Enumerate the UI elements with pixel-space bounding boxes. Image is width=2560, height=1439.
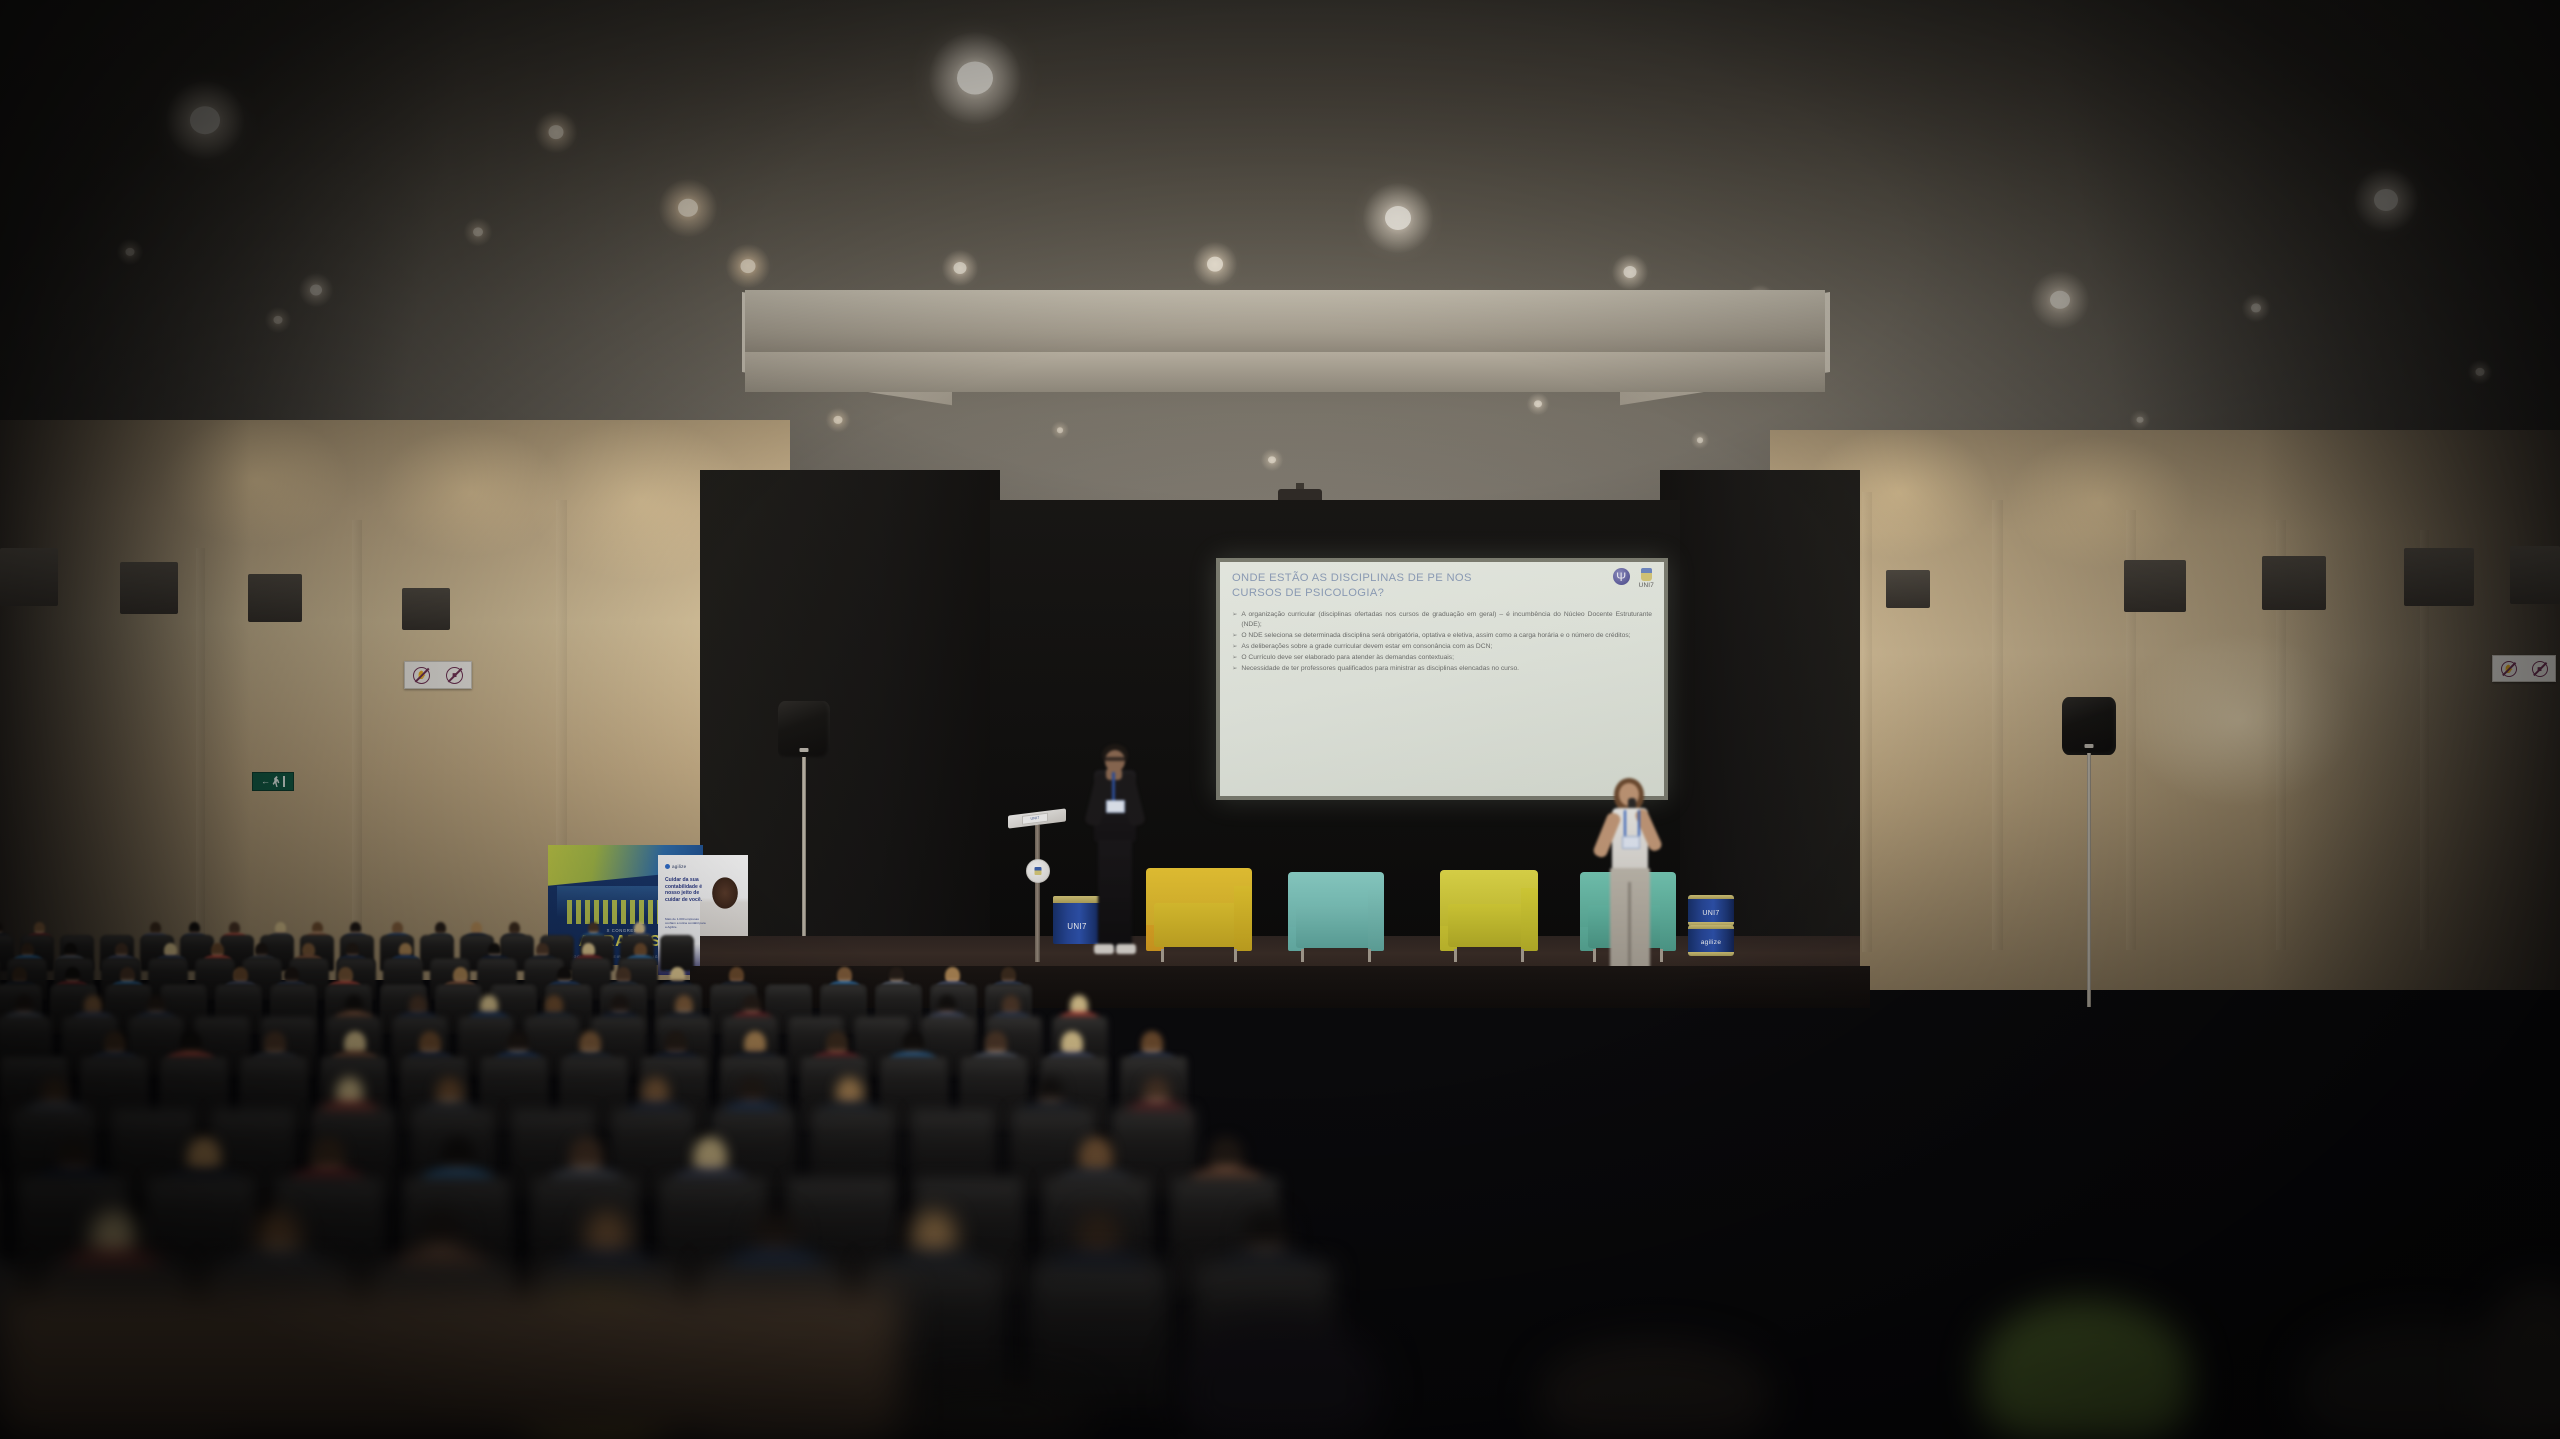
bullet-arrow-icon: ➢ (1232, 610, 1237, 629)
slide-bullet-1: ➢A organização curricular (disciplinas o… (1232, 610, 1652, 629)
slide-bullet-4: ➢O Currículo deve ser elaborado para ate… (1232, 653, 1652, 663)
slide-bullet-list: ➢A organização curricular (disciplinas o… (1232, 610, 1652, 673)
prohibition-sign-left: ✋ ■ (404, 661, 472, 689)
armchair-2-arm-right (1368, 890, 1384, 952)
no-smoking-sign: ✋ (405, 662, 438, 688)
slide-bullet-2: ➢O NDE seleciona se determinada discipli… (1232, 631, 1652, 641)
right-wall-shadow (2260, 430, 2560, 990)
no-smoking-sign-right: ✋ (2493, 656, 2524, 681)
slide-bullet-text: O Currículo deve ser elaborado para aten… (1241, 653, 1454, 663)
acoustic-panel-1 (0, 548, 58, 606)
agilize-brand-name: agilize (672, 864, 686, 869)
foreground-audience-blur-4 (1180, 1318, 1380, 1439)
presenter-right (1598, 778, 1660, 990)
barrel-agilize: agilize (1688, 925, 1734, 956)
exit-door-icon (283, 776, 285, 787)
running-person-icon (272, 776, 280, 787)
pa-speaker-right-stand (2087, 753, 2091, 1007)
acoustic-panel-9 (1886, 570, 1930, 608)
acoustic-panel-6 (2262, 556, 2326, 610)
slide-bullet-3: ➢As deliberações sobre a grade curricula… (1232, 642, 1652, 652)
armchair-3-leg-right (1521, 949, 1524, 962)
armchair-4-leg-right (1660, 949, 1663, 961)
lectern-shield-icon (1035, 867, 1042, 875)
armchair-1-seat (1154, 903, 1243, 947)
presenter-right-lanyard (1624, 810, 1640, 836)
pa-speaker-right-badge (2085, 744, 2094, 748)
wall-fin-1 (352, 520, 362, 950)
presenter-left-shoe-left (1094, 944, 1114, 954)
barrel-uni7: UNI7 (1688, 895, 1734, 926)
slide-title-line-2: CURSOS DE PSICOLOGIA? (1232, 586, 1532, 601)
no-smoking-icon-right: ✋ (2501, 661, 2517, 677)
prohibition-sign-right: ✋ ■ (2492, 655, 2556, 682)
barrel-agilize-label: agilize (1688, 939, 1734, 946)
slide-content: UNI7 ONDE ESTÃO AS DISCIPLINAS DE PE NOS… (1220, 562, 1664, 796)
foreground-audience-blur-6 (1980, 1300, 2190, 1439)
armchair-3 (1440, 870, 1538, 960)
lectern-logo: UNI7 (1022, 813, 1048, 825)
bullet-arrow-icon: ➢ (1232, 642, 1237, 652)
armchair-1-arm-right (1234, 886, 1252, 950)
armchair-2-seat (1296, 905, 1377, 947)
presenter-left-legs (1098, 840, 1132, 950)
no-drinks-sign-right: ■ (2524, 656, 2555, 681)
slide-bullet-text: A organização curricular (disciplinas of… (1241, 610, 1652, 629)
uni7-shield-icon (1641, 568, 1652, 581)
foreground-audience-blur-8 (880, 1378, 1090, 1439)
barrel-agilize-rim-bottom (1688, 952, 1734, 956)
presenter-left-shoe-right (1116, 944, 1136, 954)
barrel-agilize-rim-top (1688, 925, 1734, 929)
armchair-2 (1288, 872, 1384, 960)
armchair-4-arm-right (1660, 890, 1676, 952)
presenter-left-glasses-icon (1104, 757, 1126, 761)
aisle-floor (0, 1290, 900, 1439)
presenter-right-badge (1622, 836, 1640, 849)
acoustic-panel-5 (2124, 560, 2186, 612)
wall-fin-5 (1992, 500, 2003, 950)
pa-speaker-left-cabinet (778, 701, 830, 759)
no-drinks-sign: ■ (438, 662, 471, 688)
agilize-logo-icon (665, 864, 670, 869)
acoustic-panel-4 (402, 588, 450, 630)
barrel-uni7-rim-top (1688, 895, 1734, 899)
slide-bullet-text: Necessidade de ter professores qualifica… (1241, 664, 1519, 674)
barrel-uni7-label: UNI7 (1688, 910, 1734, 917)
pa-speaker-left-badge (800, 748, 809, 752)
exit-arrow-icon: ← (261, 777, 270, 786)
emergency-exit-sign: ← (252, 772, 294, 791)
no-drinks-icon: ■ (446, 667, 463, 684)
acoustic-panel-2 (120, 562, 178, 614)
bullet-arrow-icon: ➢ (1232, 631, 1237, 641)
slide-logos: UNI7 (1613, 568, 1654, 589)
bullet-arrow-icon: ➢ (1232, 664, 1237, 674)
presenter-left (1088, 744, 1142, 959)
stage-soffit-face (745, 352, 1825, 392)
armchair-3-arm-right (1521, 888, 1538, 951)
armchair-1-leg-left (1161, 949, 1164, 962)
uni7-logo-label: UNI7 (1639, 582, 1654, 589)
uni7-logo: UNI7 (1639, 568, 1654, 589)
armchair-3-leg-left (1454, 949, 1457, 962)
armchair-3-seat (1448, 904, 1530, 947)
agilize-headline: Cuidar da sua contabilidade é nosso jeit… (665, 877, 713, 903)
wall-fin-4 (1862, 492, 1872, 952)
no-smoking-icon: ✋ (413, 667, 430, 684)
lectern-logo-label: UNI7 (1023, 814, 1047, 824)
acoustic-panel-7 (2404, 548, 2474, 606)
audience-seat (660, 935, 694, 971)
armchair-2-leg-left (1301, 949, 1304, 961)
auditorium-scene: ✋ ■ ✋ ■ ← (0, 0, 2560, 1439)
foreground-audience-blur-9 (2480, 1280, 2560, 1439)
pa-speaker-right-cabinet (2062, 697, 2116, 755)
slide-title: ONDE ESTÃO AS DISCIPLINAS DE PE NOS CURS… (1232, 571, 1532, 601)
left-wall-shadow (0, 420, 250, 980)
presenter-right-pants-seam (1628, 882, 1631, 978)
wall-fin-9 (196, 548, 205, 958)
acoustic-panel-8 (2510, 546, 2560, 604)
armchair-1-leg-right (1234, 949, 1237, 962)
slide-title-line-1: ONDE ESTÃO AS DISCIPLINAS DE PE NOS (1232, 571, 1532, 586)
slide-bullet-5: ➢Necessidade de ter professores qualific… (1232, 664, 1652, 674)
lectern-medallion (1026, 859, 1050, 883)
acoustic-panel-3 (248, 574, 302, 622)
presenter-left-lanyard (1112, 772, 1115, 802)
projection-screen: UNI7 ONDE ESTÃO AS DISCIPLINAS DE PE NOS… (1216, 558, 1668, 800)
agilize-logo: agilize (665, 864, 686, 869)
foreground-audience-blur-5 (1540, 1340, 1770, 1439)
armchair-2-leg-right (1368, 949, 1371, 961)
presenter-left-badge (1106, 800, 1125, 813)
lectern-stem (1035, 825, 1040, 962)
agilize-subtext: Mais de 1.000 empresas confiam a rotina … (665, 917, 707, 929)
slide-bullet-text: O NDE seleciona se determinada disciplin… (1241, 631, 1630, 641)
armchair-4-leg-left (1593, 949, 1596, 961)
slide-bullet-text: As deliberações sobre a grade curricular… (1241, 642, 1492, 652)
armchair-1 (1146, 868, 1252, 960)
psi-logo-icon (1613, 568, 1630, 585)
pa-speaker-right (2062, 697, 2116, 1007)
stage-front-face (690, 966, 1870, 1008)
no-drinks-icon-right: ■ (2532, 661, 2548, 677)
bullet-arrow-icon: ➢ (1232, 653, 1237, 663)
